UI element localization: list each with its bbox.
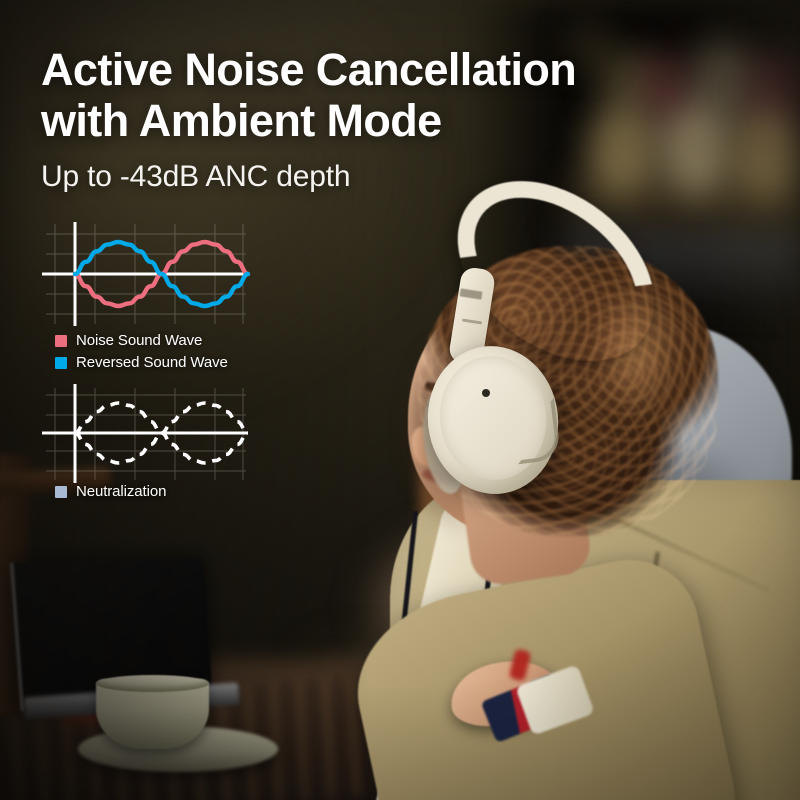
page-title: Active Noise Cancellation with Ambient M… — [41, 44, 601, 146]
legend-item-neutralization: Neutralization — [55, 483, 166, 500]
neutralization-waveform-chart — [46, 388, 246, 478]
anc-waveform-chart — [46, 224, 246, 324]
product-feature-banner: Active Noise Cancellation with Ambient M… — [0, 0, 800, 800]
legend-swatch-reversed — [55, 357, 67, 369]
legend-swatch-noise — [55, 335, 67, 347]
page-subtitle: Up to -43dB ANC depth — [41, 160, 561, 194]
legend-swatch-neutralization — [55, 486, 67, 498]
neutralization-svg — [46, 388, 296, 488]
legend-label-reversed: Reversed Sound Wave — [76, 354, 228, 371]
chart1-legend: Noise Sound Wave Reversed Sound Wave — [55, 332, 228, 371]
waveform-svg — [46, 224, 296, 334]
chart2-axes — [42, 384, 248, 483]
legend-item-reversed-sound-wave: Reversed Sound Wave — [55, 354, 228, 371]
chart2-legend: Neutralization — [55, 483, 166, 500]
legend-label-noise: Noise Sound Wave — [76, 332, 202, 349]
legend-item-noise-sound-wave: Noise Sound Wave — [55, 332, 228, 349]
legend-label-neutralization: Neutralization — [76, 483, 166, 500]
